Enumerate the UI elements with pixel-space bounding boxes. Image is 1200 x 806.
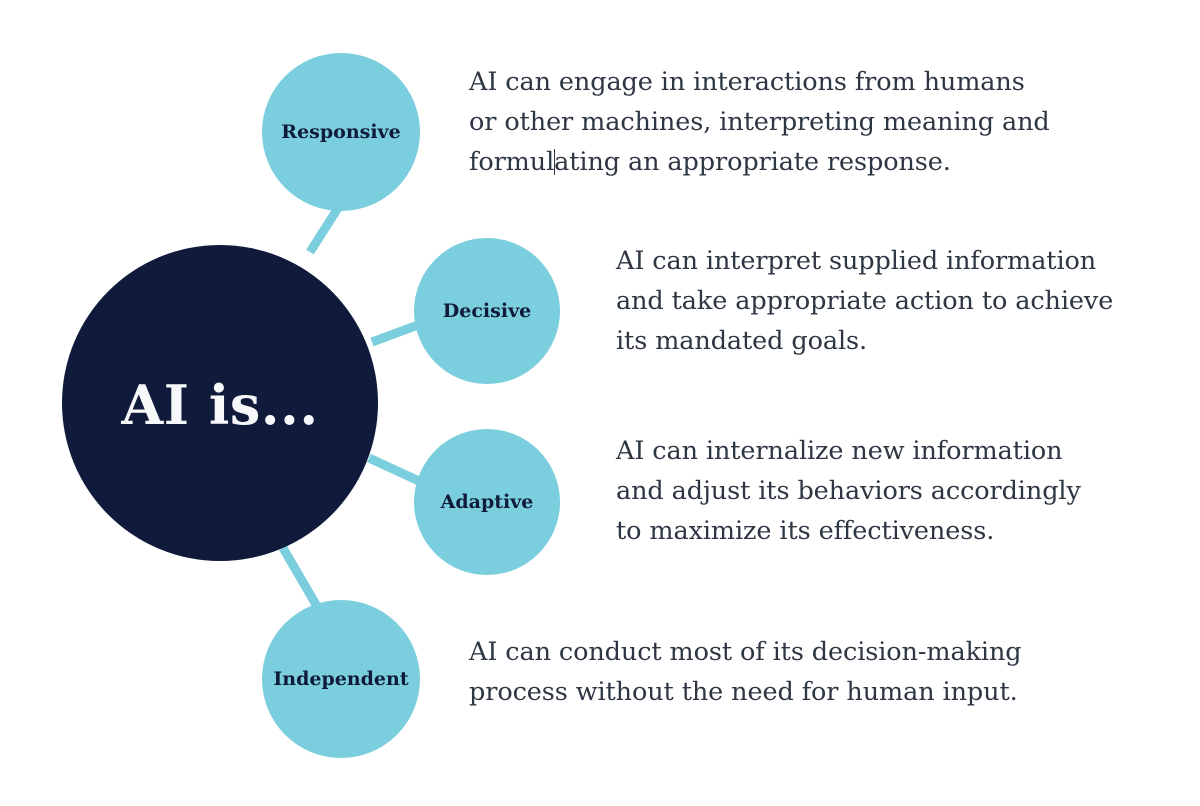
description-line: or other machines, interpreting meaning …	[469, 102, 1050, 142]
description-decisive: AI can interpret supplied information an…	[616, 241, 1113, 361]
branch-circle-adaptive[interactable]: Adaptive	[414, 429, 560, 575]
description-line: to maximize its effectiveness.	[616, 511, 1081, 551]
description-line: AI can interpret supplied information	[616, 241, 1113, 281]
branch-label-decisive: Decisive	[443, 302, 531, 321]
description-line: and take appropriate action to achieve	[616, 281, 1113, 321]
connector-hub-to-decisive	[372, 325, 418, 342]
description-adaptive: AI can internalize new information and a…	[616, 431, 1081, 551]
description-line: its mandated goals.	[616, 321, 1113, 361]
hub-label: AI is...	[121, 378, 318, 432]
branch-label-adaptive: Adaptive	[441, 493, 534, 512]
description-independent: AI can conduct most of its decision-maki…	[469, 632, 1022, 712]
description-line: AI can engage in interactions from human…	[469, 62, 1050, 102]
hub-circle-ai-is[interactable]: AI is...	[62, 245, 378, 561]
description-line: formulating an appropriate response.	[469, 142, 1050, 182]
description-line: AI can internalize new information	[616, 431, 1081, 471]
description-responsive: AI can engage in interactions from human…	[469, 62, 1050, 182]
branch-circle-responsive[interactable]: Responsive	[262, 53, 420, 211]
branch-circle-decisive[interactable]: Decisive	[414, 238, 560, 384]
text-cursor-artifact	[554, 149, 555, 175]
connector-hub-to-adaptive	[369, 458, 419, 481]
branch-circle-independent[interactable]: Independent	[262, 600, 420, 758]
description-line: and adjust its behaviors accordingly	[616, 471, 1081, 511]
description-line: AI can conduct most of its decision-maki…	[469, 632, 1022, 672]
connector-hub-to-responsive	[310, 208, 338, 252]
branch-label-independent: Independent	[273, 670, 408, 689]
connector-hub-to-independent	[283, 548, 318, 608]
description-line: process without the need for human input…	[469, 672, 1022, 712]
branch-label-responsive: Responsive	[281, 123, 400, 142]
diagram-canvas: AI is... Responsive Decisive Adaptive In…	[0, 0, 1200, 806]
